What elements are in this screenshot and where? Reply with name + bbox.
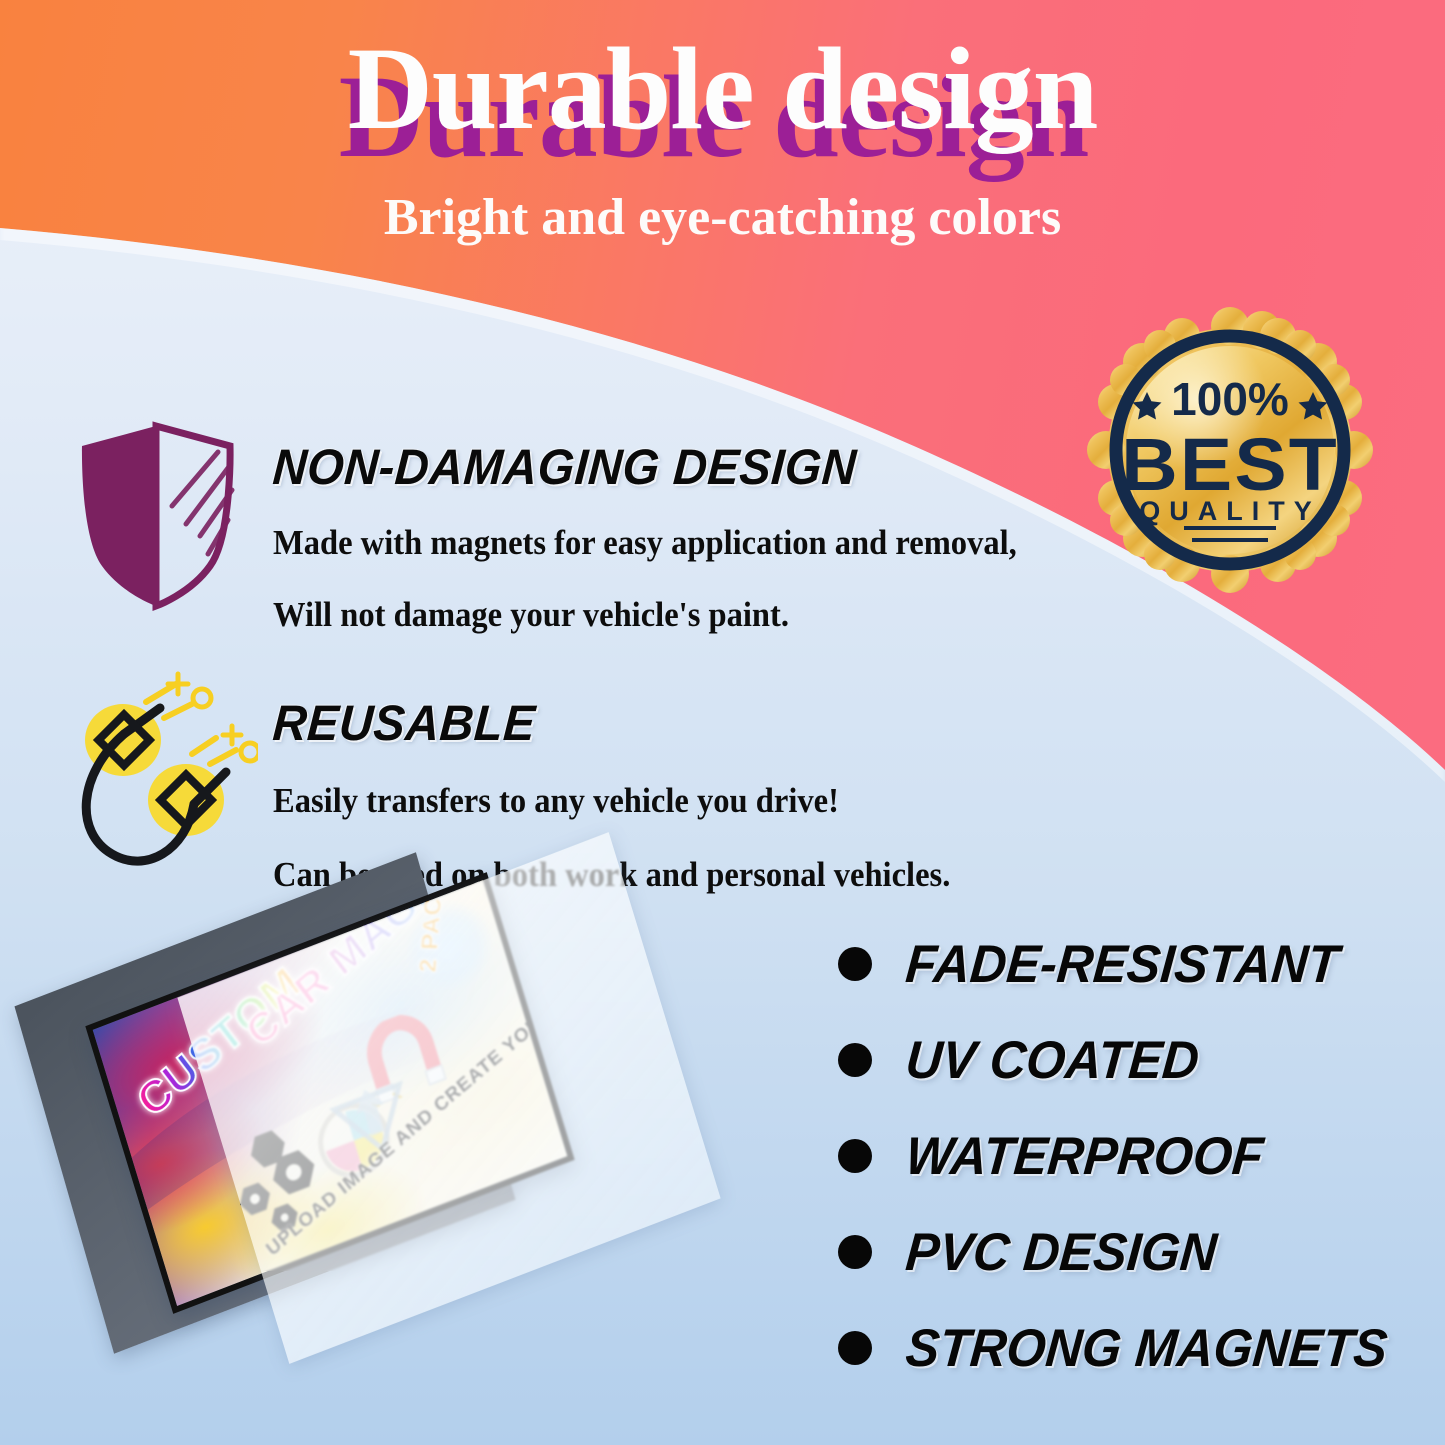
best-quality-badge: 100% BEST QUALITY — [1084, 304, 1376, 596]
bullet-label: WATERPROOF — [903, 1126, 1265, 1187]
magnet-icon — [68, 668, 258, 873]
list-item: STRONG MAGNETS — [838, 1300, 1438, 1396]
list-item: WATERPROOF — [838, 1108, 1438, 1204]
bullet-dot-icon — [838, 1331, 872, 1365]
product-mockup-image: CUSTOM CUSTOM CAR MAGNETS CAR MAGNETS 2 … — [40, 905, 740, 1405]
list-item: UV COATED — [838, 1012, 1438, 1108]
bullet-label: PVC DESIGN — [903, 1222, 1219, 1283]
feature-body-line-1: Easily transfers to any vehicle you driv… — [273, 776, 1012, 826]
infographic-canvas: Durable design Durable design Bright and… — [0, 0, 1445, 1445]
feature-bullet-list: FADE-RESISTANT UV COATED WATERPROOF PVC … — [838, 916, 1438, 1396]
bullet-dot-icon — [838, 1043, 872, 1077]
bullet-dot-icon — [838, 947, 872, 981]
bullet-label: FADE-RESISTANT — [903, 934, 1341, 995]
badge-percent: 100% — [1084, 372, 1376, 426]
bullet-label: STRONG MAGNETS — [903, 1318, 1389, 1379]
feature-non-damaging: NON-DAMAGING DESIGN Made with magnets fo… — [68, 420, 1068, 639]
badge-main-text: BEST — [1075, 422, 1385, 507]
list-item: PVC DESIGN — [838, 1204, 1438, 1300]
shield-icon — [68, 420, 252, 617]
page-title: Durable design Durable design — [0, 0, 1445, 160]
list-item: FADE-RESISTANT — [838, 916, 1438, 1012]
badge-sub-text: QUALITY — [1084, 496, 1376, 527]
feature-body-line-1: Made with magnets for easy application a… — [273, 518, 1012, 568]
page-subtitle: Bright and eye-catching colors — [0, 188, 1445, 247]
feature-heading: REUSABLE — [271, 694, 1022, 752]
bullet-dot-icon — [838, 1235, 872, 1269]
feature-body-line-2: Will not damage your vehicle's paint. — [273, 590, 1012, 640]
bullet-dot-icon — [838, 1139, 872, 1173]
page-title-main: Durable design — [0, 30, 1445, 148]
hero-section: Durable design Durable design Bright and… — [0, 0, 1445, 160]
bullet-label: UV COATED — [903, 1030, 1201, 1091]
feature-heading: NON-DAMAGING DESIGN — [271, 438, 1022, 496]
